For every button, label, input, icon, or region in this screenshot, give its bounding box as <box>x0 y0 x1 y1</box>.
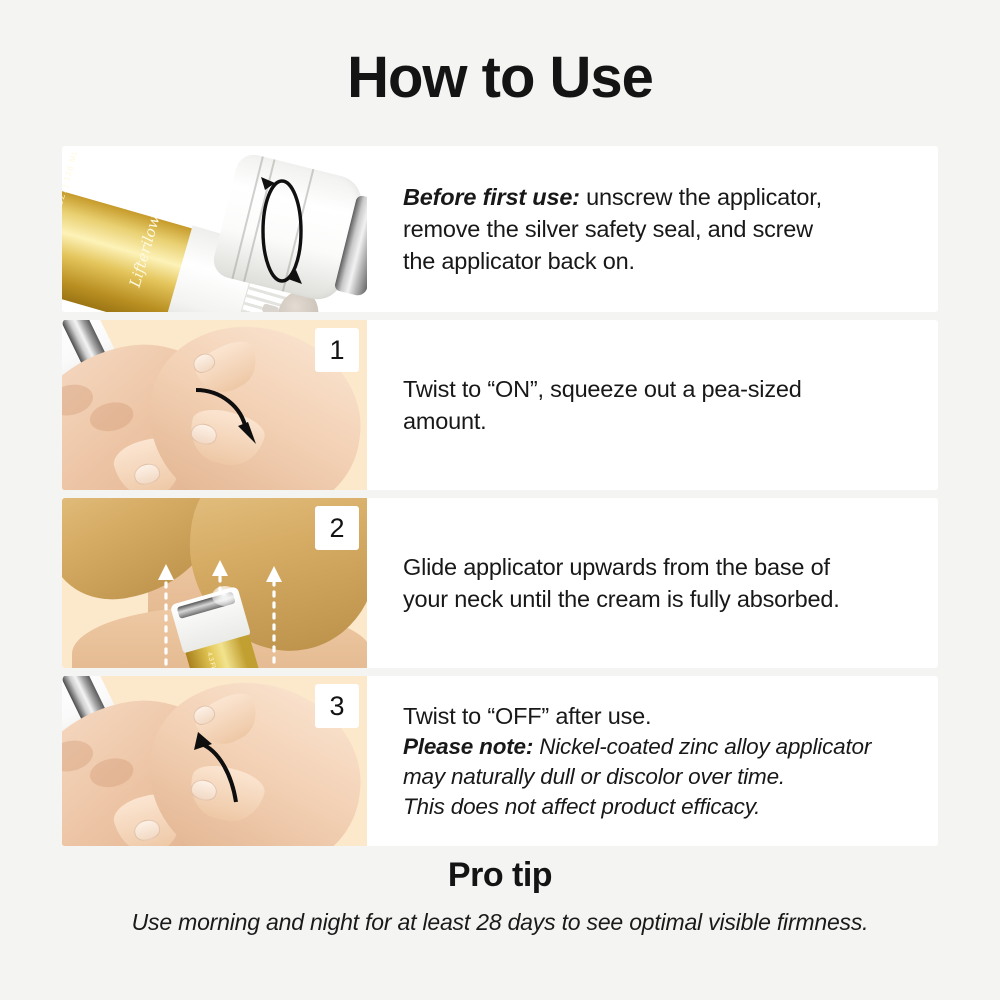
knuckle <box>87 398 136 435</box>
step-card-1: 4.3 FL. OZ. | 126 ML Lifterilow <box>62 320 938 490</box>
step-text-line: This does not affect product efficacy. <box>403 792 912 822</box>
cream-dab <box>212 586 238 606</box>
step-number-badge: 2 <box>315 506 359 550</box>
step-note-lead: Please note: <box>403 734 533 759</box>
step-image-2: 4.3 FL. OZ. 2 <box>62 498 367 668</box>
step-text-line: Please note: Nickel-coated zinc alloy ap… <box>403 732 912 762</box>
step-card-3: 4.3 FL. OZ. | 126 ML Lifterilow <box>62 676 938 846</box>
step-image-1: 4.3 FL. OZ. | 126 ML Lifterilow <box>62 320 367 490</box>
step-number-badge: 1 <box>315 328 359 372</box>
arrow-curve-down-icon <box>190 382 262 450</box>
step-card-2: 4.3 FL. OZ. 2 Glide applicator upwards f… <box>62 498 938 668</box>
step-text-line: your neck until the cream is fully absor… <box>403 583 912 615</box>
pro-tip-section: Pro tip Use morning and night for at lea… <box>0 856 1000 936</box>
knuckle <box>87 754 136 791</box>
step-text-line: Twist to “ON”, squeeze out a pea-sized <box>403 373 912 405</box>
pro-tip-subtitle: Use morning and night for at least 28 da… <box>0 909 1000 936</box>
step-text-1: Twist to “ON”, squeeze out a pea-sized a… <box>367 320 938 490</box>
step-number-badge: 3 <box>315 684 359 728</box>
step-text-line: amount. <box>403 405 912 437</box>
step-text-intro: Before first use: unscrew the applicator… <box>367 146 938 312</box>
pro-tip-title: Pro tip <box>0 856 1000 895</box>
rotation-arrow-icon <box>252 174 312 288</box>
step-text-rest: unscrew the applicator, <box>580 184 822 210</box>
step-note-rest: Nickel-coated zinc alloy applicator <box>533 734 871 759</box>
step-text-line: Twist to “OFF” after use. <box>403 700 912 732</box>
step-text-2: Glide applicator upwards from the base o… <box>367 498 938 668</box>
how-to-use-page: How to Use 4.3 FL. OZ. | 126 ML Lifteril… <box>0 0 1000 1000</box>
step-text-3: Twist to “OFF” after use. Please note: N… <box>367 676 938 846</box>
step-text-line: the applicator back on. <box>403 245 912 277</box>
step-image-intro: 4.3 FL. OZ. | 126 ML Lifterilow <box>62 146 367 312</box>
arrow-curve-up-icon <box>192 732 258 806</box>
tube-brand-script: Lifterilow <box>126 213 164 289</box>
tube-volume-label: 4.3 FL. OZ. <box>205 651 221 668</box>
tube-volume-label: 4.3 FL. OZ. | 126 ML <box>62 148 80 241</box>
page-title: How to Use <box>0 0 1000 109</box>
step-image-3: 4.3 FL. OZ. | 126 ML Lifterilow <box>62 676 367 846</box>
step-card-intro: 4.3 FL. OZ. | 126 ML Lifterilow <box>62 146 938 312</box>
step-text-line: remove the silver safety seal, and screw <box>403 213 912 245</box>
step-text-line: Before first use: unscrew the applicator… <box>403 181 912 213</box>
step-text-line: may naturally dull or discolor over time… <box>403 762 912 792</box>
steps-list: 4.3 FL. OZ. | 126 ML Lifterilow <box>62 146 938 854</box>
step-text-line: Glide applicator upwards from the base o… <box>403 551 912 583</box>
step-text-lead: Before first use: <box>403 184 580 210</box>
